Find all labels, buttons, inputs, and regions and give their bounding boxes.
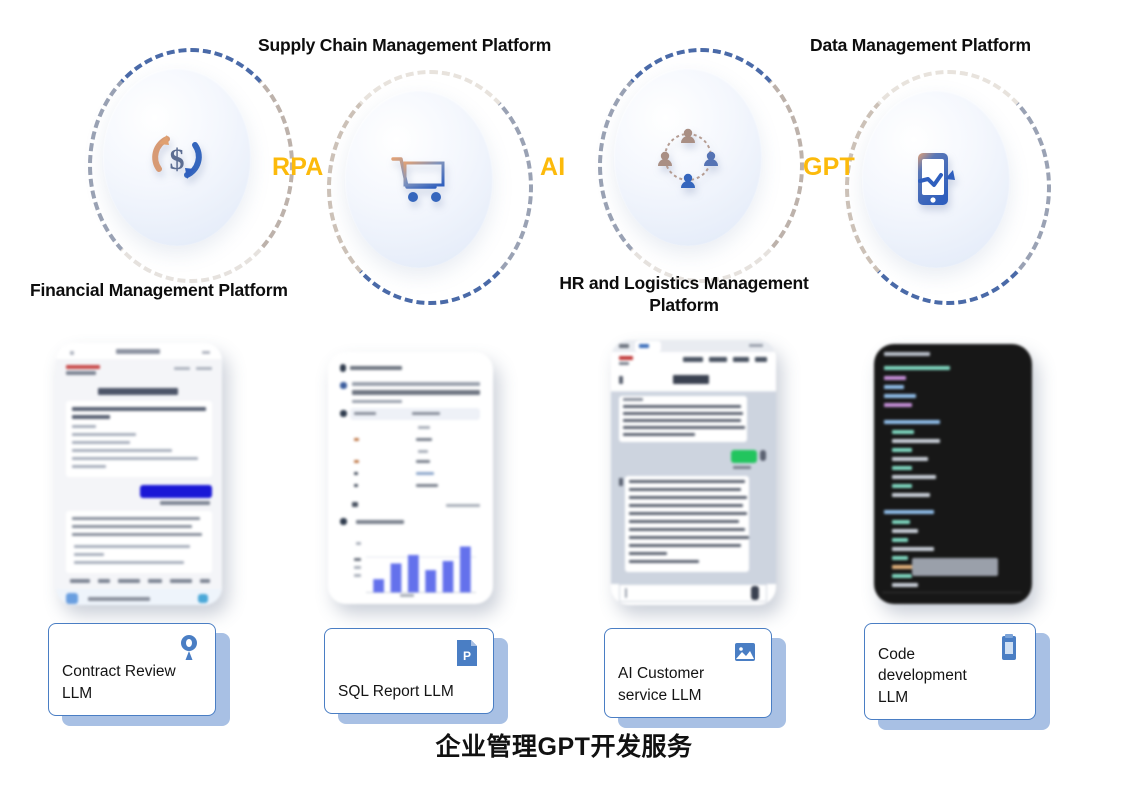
- platform-label-data: Data Management Platform: [810, 34, 1031, 56]
- platform-label-supply-chain: Supply Chain Management Platform: [258, 34, 551, 56]
- label-card-sql-report[interactable]: P SQL Report LLM: [324, 628, 494, 714]
- connector-label-ai: AI: [540, 153, 565, 182]
- label-card-contract-review[interactable]: Contract Review LLM: [48, 623, 216, 716]
- card-label: AI Customer service LLM: [618, 663, 704, 706]
- people-network-icon: [648, 117, 728, 197]
- mobile-analytics-icon: [896, 139, 976, 219]
- money-refresh-icon: $: [137, 117, 217, 197]
- platform-bubble-hr-logistics[interactable]: [614, 68, 762, 246]
- mockup-chat-document-phone: [56, 343, 222, 605]
- platform-label-hr-logistics: HR and Logistics Management Platform: [538, 272, 830, 317]
- shopping-cart-icon: [379, 139, 459, 219]
- mockup-report-chart-screen: [328, 352, 493, 604]
- platform-bubble-data[interactable]: [862, 90, 1010, 268]
- connector-label-gpt: GPT: [803, 153, 855, 182]
- mock-bar-chart: [350, 534, 480, 596]
- clipboard-icon: [996, 633, 1022, 663]
- bottom-title: 企业管理GPT开发服务: [0, 727, 1128, 763]
- platform-bubble-financial[interactable]: $: [103, 68, 251, 246]
- image-photo-icon: [732, 638, 758, 668]
- label-card-code-development[interactable]: Code development LLM: [864, 623, 1036, 720]
- card-label: Contract Review LLM: [62, 661, 176, 704]
- svg-text:$: $: [170, 143, 185, 176]
- card-label: Code development LLM: [878, 644, 967, 708]
- mockup-messaging-phone: [611, 340, 776, 605]
- platform-bubble-supply-chain[interactable]: [345, 90, 493, 268]
- platform-flow-diagram: $: [0, 0, 1128, 330]
- label-card-ai-customer-service[interactable]: AI Customer service LLM: [604, 628, 772, 718]
- connector-label-rpa: RPA: [272, 153, 324, 182]
- platform-label-financial: Financial Management Platform: [30, 279, 288, 301]
- card-label: SQL Report LLM: [338, 681, 454, 702]
- p-document-icon: P: [454, 638, 480, 668]
- code-editor-watermark: [912, 558, 998, 576]
- svg-text:P: P: [463, 649, 471, 663]
- seal-pin-icon: [176, 633, 202, 663]
